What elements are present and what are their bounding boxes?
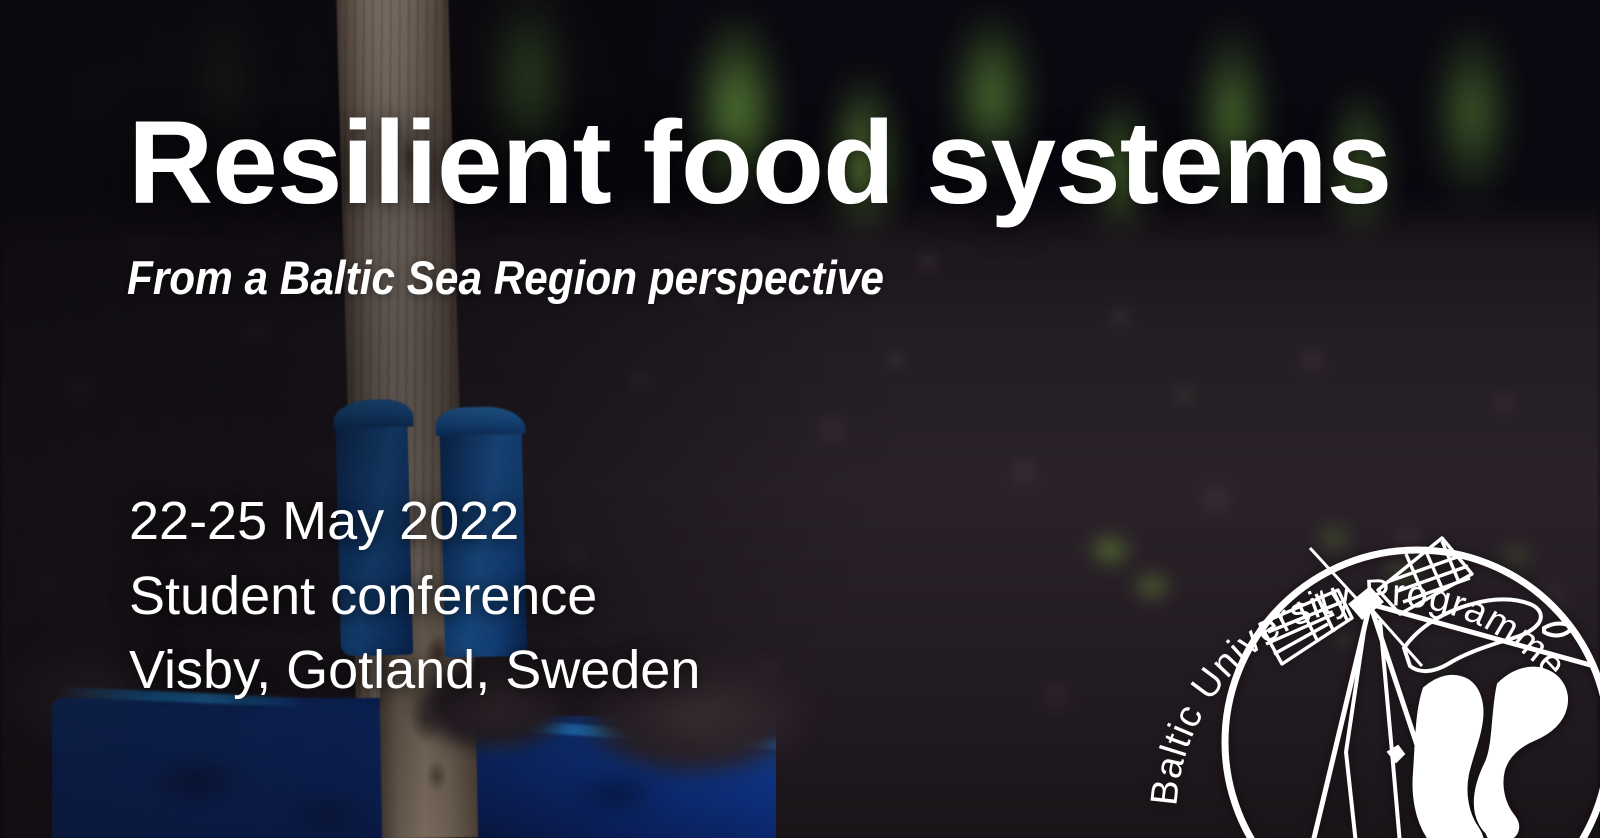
event-dates: 22-25 May 2022 <box>129 484 700 559</box>
event-location: Visby, Gotland, Sweden <box>129 633 700 708</box>
conference-poster: Resilient food systems From a Baltic Sea… <box>0 0 1600 838</box>
event-details: 22-25 May 2022 Student conference Visby,… <box>129 484 700 708</box>
baltic-university-programme-logo[interactable]: Baltic University Programme <box>1142 452 1600 838</box>
page-title: Resilient food systems <box>128 104 1391 222</box>
page-subtitle: From a Baltic Sea Region perspective <box>127 253 884 302</box>
windmill-tower <box>1346 618 1400 838</box>
event-type: Student conference <box>129 559 700 634</box>
